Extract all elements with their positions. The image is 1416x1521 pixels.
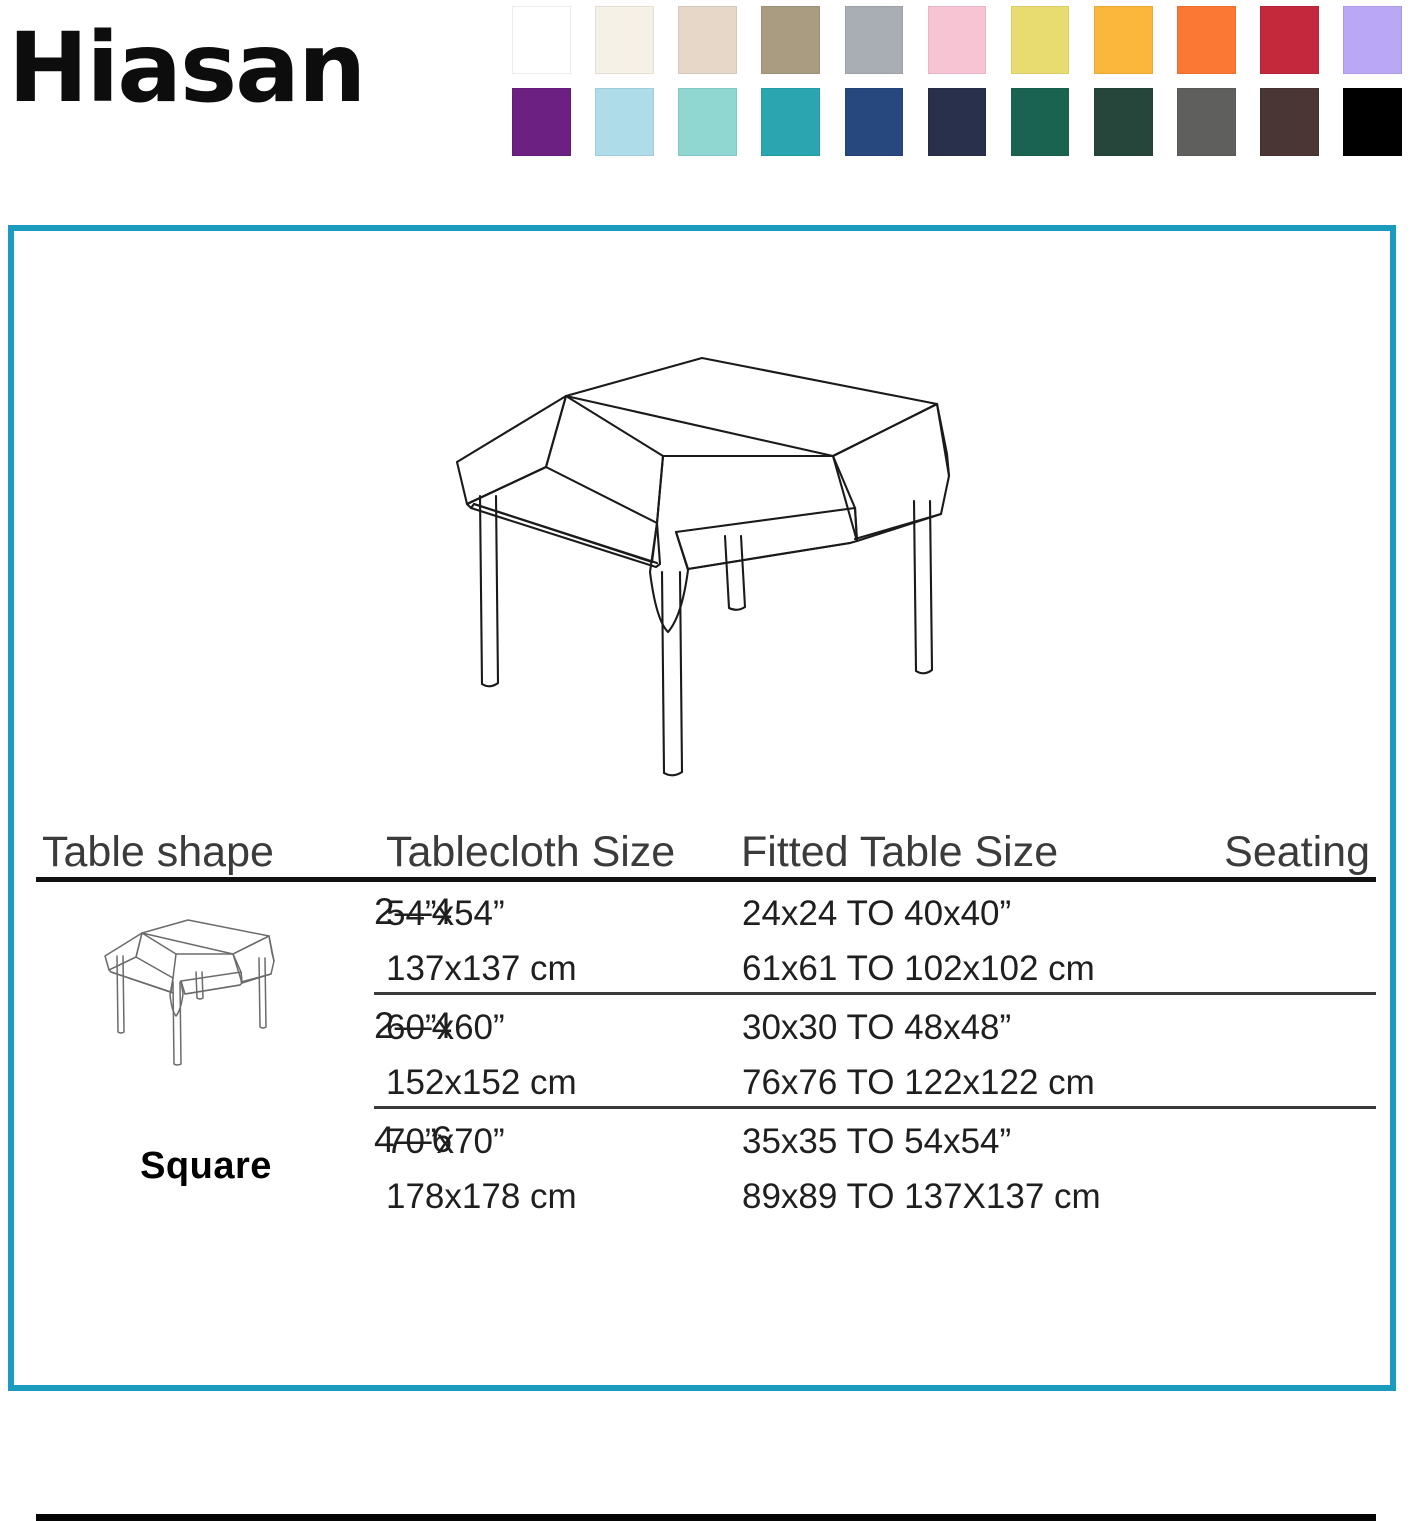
square-table-thumbnail-icon	[91, 912, 321, 1117]
size-chart-card: Table shape Tablecloth Size Fitted Table…	[8, 225, 1396, 1391]
cloth-size-cm: 137x137 cm	[386, 941, 577, 996]
table-bottom-rule	[36, 1514, 1376, 1521]
table-row: 60”x60” 152x152 cm 30x30 TO 48x48” 76x76…	[374, 1000, 1376, 1112]
color-swatch-lavender[interactable]	[1343, 6, 1402, 74]
color-swatch-silver-gray[interactable]	[845, 6, 904, 74]
cloth-size-cm: 178x178 cm	[386, 1169, 577, 1224]
color-swatch-black[interactable]	[1343, 88, 1402, 156]
color-swatch-row-1	[512, 6, 1402, 74]
color-swatch-dark-navy[interactable]	[928, 88, 987, 156]
fitted-size-inches: 24x24 TO 40x40”	[742, 894, 1011, 933]
cloth-size-inches: 60”x60”	[386, 1008, 505, 1047]
cell-tablecloth-size: 70”x70” 178x178 cm	[386, 1114, 577, 1224]
color-swatch-gold[interactable]	[1094, 6, 1153, 74]
brand-logo: Hiasan	[8, 8, 468, 128]
color-swatch-taupe[interactable]	[761, 6, 820, 74]
cloth-size-cm: 152x152 cm	[386, 1055, 577, 1110]
color-swatch-dark-brown[interactable]	[1260, 88, 1319, 156]
row-divider-rule	[374, 1106, 1376, 1109]
top-bar: Hiasan	[0, 0, 1416, 225]
column-header-fitted-size: Fitted Table Size	[741, 827, 1058, 877]
cell-fitted-table-size: 35x35 TO 54x54” 89x89 TO 137X137 cm	[742, 1114, 1101, 1224]
fitted-size-inches: 30x30 TO 48x48”	[742, 1008, 1011, 1047]
square-table-illustration-icon	[414, 336, 994, 796]
color-swatch-panel	[512, 6, 1402, 171]
size-spec-table: Table shape Tablecloth Size Fitted Table…	[36, 811, 1376, 1514]
color-swatch-ivory[interactable]	[595, 6, 654, 74]
color-swatch-aqua[interactable]	[678, 88, 737, 156]
fitted-size-cm: 89x89 TO 137X137 cm	[742, 1169, 1101, 1224]
cell-tablecloth-size: 54”x54” 137x137 cm	[386, 886, 577, 996]
column-header-tablecloth-size: Tablecloth Size	[386, 827, 675, 877]
table-row: 54”x54” 137x137 cm 24x24 TO 40x40” 61x61…	[374, 886, 1376, 998]
table-shape-label: Square	[56, 1145, 356, 1188]
color-swatch-orange[interactable]	[1177, 6, 1236, 74]
color-swatch-teal[interactable]	[761, 88, 820, 156]
brand-name: Hiasan	[8, 8, 468, 128]
color-swatch-light-blue[interactable]	[595, 88, 654, 156]
table-row: 70”x70” 178x178 cm 35x35 TO 54x54” 89x89…	[374, 1114, 1376, 1226]
row-divider-rule	[374, 992, 1376, 995]
color-swatch-yellow[interactable]	[1011, 6, 1070, 74]
fitted-size-inches: 35x35 TO 54x54”	[742, 1122, 1011, 1161]
color-swatch-forest-green[interactable]	[1094, 88, 1153, 156]
color-swatch-navy-blue[interactable]	[845, 88, 904, 156]
color-swatch-red[interactable]	[1260, 6, 1319, 74]
cloth-size-inches: 70”x70”	[386, 1122, 505, 1161]
column-header-seating: Seating	[1224, 827, 1370, 877]
table-shape-cell: Square	[56, 912, 356, 1202]
cell-tablecloth-size: 60”x60” 152x152 cm	[386, 1000, 577, 1110]
color-swatch-purple[interactable]	[512, 88, 571, 156]
fitted-size-cm: 76x76 TO 122x122 cm	[742, 1055, 1095, 1110]
table-body: Square 54”x54” 137x137 cm 24x24 TO 40x40…	[36, 882, 1376, 1514]
color-swatch-emerald[interactable]	[1011, 88, 1070, 156]
table-header-row: Table shape Tablecloth Size Fitted Table…	[36, 811, 1376, 877]
color-swatch-beige[interactable]	[678, 6, 737, 74]
cell-fitted-table-size: 24x24 TO 40x40” 61x61 TO 102x102 cm	[742, 886, 1095, 996]
color-swatch-white[interactable]	[512, 6, 571, 74]
column-header-table-shape: Table shape	[42, 827, 274, 877]
fitted-size-cm: 61x61 TO 102x102 cm	[742, 941, 1095, 996]
cloth-size-inches: 54”x54”	[386, 894, 505, 933]
color-swatch-row-2	[512, 88, 1402, 156]
cell-fitted-table-size: 30x30 TO 48x48” 76x76 TO 122x122 cm	[742, 1000, 1095, 1110]
color-swatch-dark-gray[interactable]	[1177, 88, 1236, 156]
color-swatch-pink[interactable]	[928, 6, 987, 74]
